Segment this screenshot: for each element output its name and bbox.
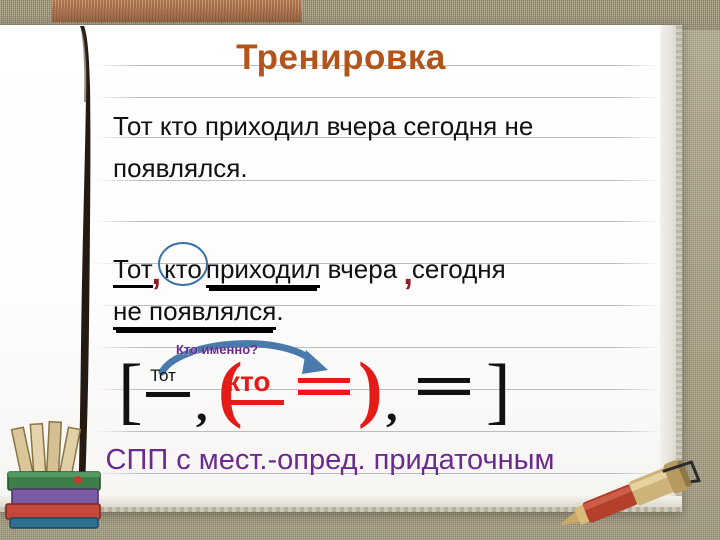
books-decoration-icon: [2, 420, 112, 530]
page-title: Тренировка: [0, 38, 682, 78]
scheme-comma-2: ,: [386, 382, 398, 428]
word-tot: Тот: [113, 254, 153, 288]
scheme-word-kto: кто: [226, 366, 270, 398]
paren-close: ): [358, 352, 383, 426]
predicate-bar-main-bottom: [418, 390, 470, 395]
page-edge-right: [660, 25, 682, 512]
word-prihodil: приходил: [206, 254, 321, 288]
sentence-annotated-line1: Тот,ктоприходил вчера ,сегодня: [113, 248, 653, 290]
scheme-word-tot: Тот: [150, 366, 176, 386]
predicate-ne-poyavlyalsya: не появлялся: [113, 296, 276, 330]
predicate-bar-sub-top: [298, 378, 350, 383]
predicate-bar-sub-bottom: [298, 390, 350, 395]
subject-bar-sub: [222, 400, 284, 405]
question-label: Кто именно?: [176, 342, 258, 357]
sentence-plain-line2: появлялся.: [113, 147, 653, 189]
sentence-annotated: Тот,ктоприходил вчера ,сегодня не появля…: [113, 248, 653, 332]
subject-bar-main: [146, 392, 190, 397]
leather-strip: [52, 0, 302, 22]
bracket-close: ]: [486, 354, 511, 428]
bracket-open: [: [118, 354, 143, 428]
word-segodnya: сегодня: [412, 254, 506, 284]
pen-decoration-icon: [548, 452, 708, 532]
comma-red-2: ,: [403, 254, 412, 292]
word-kto-text: кто: [164, 254, 202, 284]
sentence-plain-line1: Тот кто приходил вчера сегодня не: [113, 105, 653, 147]
word-vchera: вчера: [320, 254, 404, 284]
predicate-bar-main-top: [418, 378, 470, 383]
sentence-plain: Тот кто приходил вчера сегодня не появля…: [113, 105, 653, 189]
sentence-annotated-line2: не появлялся.: [113, 290, 653, 332]
slide-canvas: Тренировка Тот кто приходил вчера сегодн…: [0, 0, 720, 540]
word-kto-circled: кто: [160, 248, 206, 290]
syntax-scheme: Кто именно? [ Тот , ( кто ) , ]: [118, 330, 538, 440]
period: .: [276, 296, 283, 326]
scheme-comma-1: ,: [196, 382, 208, 428]
